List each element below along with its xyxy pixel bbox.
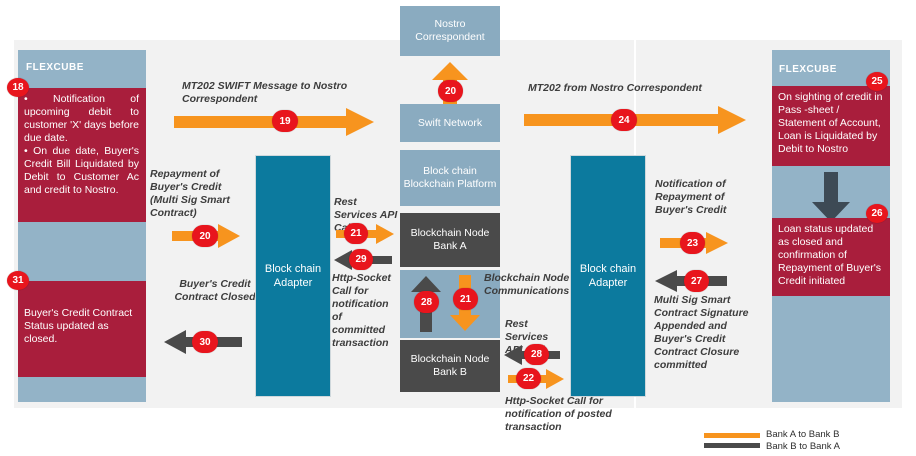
blockchain-node-bank-a: Blockchain Node Bank A [400,213,500,267]
badge-31: 31 [7,271,29,290]
caption-repayment-buyers-credit: Repayment of Buyer's Credit (Multi Sig S… [150,168,250,220]
blockchain-node-bank-b: Blockchain Node Bank B [400,340,500,392]
badge-26: 26 [866,204,888,223]
badge-28-horizontal: 28 [524,344,549,365]
caption-http-socket-posted: Http-Socket Call for notification of pos… [505,395,635,434]
diagram-canvas: FLEXCUBE • Notification of upcoming debi… [0,0,916,456]
note-25-text: On sighting of credit in Pass -sheet / S… [778,91,883,156]
badge-21-vertical: 21 [453,288,478,310]
flexcube-label-left: FLEXCUBE [26,62,84,73]
badge-20-vertical: 20 [438,80,463,102]
note-31: Buyer's Credit Contract Status updated a… [18,281,146,377]
caption-multisig-closure: Multi Sig Smart Contract Signature Appen… [654,294,750,372]
note-18-line-2: • On due date, Buyer's Credit Bill Liqui… [24,145,139,197]
legend-label-bank-a-to-b: Bank A to Bank B [766,429,839,441]
note-18: • Notification of upcoming debit to cust… [18,88,146,222]
caption-mt202-from-nostro: MT202 from Nostro Correspondent [528,82,748,95]
badge-22: 22 [516,368,541,389]
blockchain-platform-box: Block chain Blockchain Platform [400,150,500,206]
badge-23: 23 [680,232,705,254]
badge-29: 29 [349,249,373,270]
note-25: On sighting of credit in Pass -sheet / S… [772,86,890,166]
badge-24: 24 [611,109,637,131]
blockchain-adapter-left: Block chain Adapter [255,155,331,397]
note-31-text: Buyer's Credit Contract Status updated a… [24,307,139,346]
badge-19: 19 [272,110,298,132]
badge-27: 27 [684,270,709,292]
caption-node-communications: Blockchain Node Communications [484,272,584,298]
legend-swatch-bank-a-to-b [704,433,760,438]
nostro-correspondent-box: Nostro Correspondent [400,6,500,56]
legend-swatch-bank-b-to-a [704,443,760,448]
caption-contract-closed: Buyer's Credit Contract Closed [160,278,270,304]
badge-18: 18 [7,78,29,97]
badge-30: 30 [192,331,218,353]
badge-21-left: 21 [344,223,368,244]
flexcube-label-right: FLEXCUBE [779,64,837,75]
blockchain-adapter-right: Block chain Adapter [570,155,646,397]
badge-20-left: 20 [192,225,218,247]
badge-25: 25 [866,72,888,91]
badge-28-vertical: 28 [414,291,439,313]
note-26-text: Loan status updated as closed and confir… [778,223,883,288]
note-26: Loan status updated as closed and confir… [772,218,890,296]
caption-notification-repayment: Notification of Repayment of Buyer's Cre… [655,178,745,217]
caption-mt202-swift: MT202 SWIFT Message to Nostro Correspond… [182,80,392,106]
legend-label-bank-b-to-a: Bank B to Bank A [766,441,840,453]
swift-network-box: Swift Network [400,104,500,142]
caption-http-socket-committed: Http-Socket Call for notification of com… [332,272,394,350]
note-18-line-1: • Notification of upcoming debit to cust… [24,93,139,145]
